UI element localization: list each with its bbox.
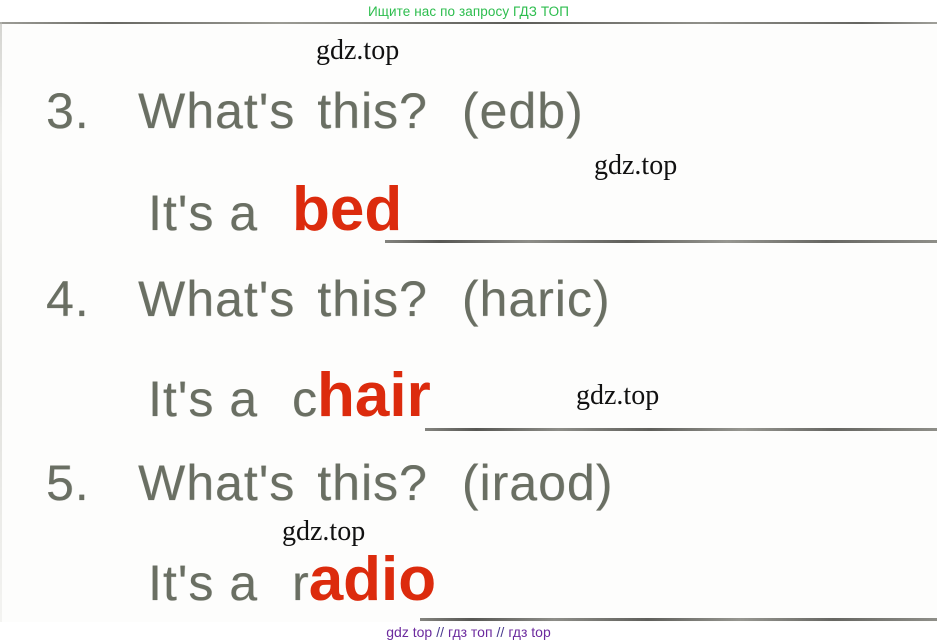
footer-separator-1: // (432, 624, 448, 640)
footer-part-latin-2: гдз top (508, 624, 550, 640)
footer-separator-2: // (493, 624, 509, 640)
exercise-answer-5: It's aradio (148, 544, 436, 615)
question-rest-3: this? (317, 83, 428, 139)
promo-banner-text: Ищите нас по запросу ГДЗ ТОП (368, 4, 569, 19)
answer-prefix-4: It's a (148, 371, 258, 427)
scan-edge-top-line (0, 22, 937, 24)
watermark-gdz-top-3: gdz.top (576, 380, 659, 412)
watermark-gdz-top-4: gdz.top (282, 516, 365, 548)
answer-typed-letter-4: c (292, 371, 317, 427)
footer-watermark-strip: gdz top//гдз топ//гдз top (0, 622, 937, 641)
exercise-answer-3: It's abed (148, 174, 402, 245)
answer-prefix-3: It's a (148, 185, 258, 241)
question-word-3: What's (138, 83, 295, 139)
question-rest-4: this? (317, 271, 428, 327)
exercise-number-4: 4. (46, 270, 138, 328)
exercise-answer-4: It's achair (148, 360, 431, 431)
answer-word-3: bed (292, 175, 402, 244)
answer-word-5: adio (309, 545, 436, 614)
answer-prefix-5: It's a (148, 555, 258, 611)
question-rest-5: this? (317, 455, 428, 511)
exercise-question-3: 3.What'sthis?(edb) (46, 82, 584, 140)
footer-part-cyrillic: гдз топ (448, 624, 493, 640)
exercise-number-3: 3. (46, 82, 138, 140)
promo-banner: Ищите нас по запросу ГДЗ ТОП (0, 0, 937, 22)
watermark-gdz-top-2: gdz.top (594, 150, 677, 182)
scan-edge-left-line (0, 22, 2, 622)
answer-rule-3 (385, 240, 937, 243)
answer-rule-4 (425, 428, 937, 431)
scramble-5: (iraod) (462, 455, 613, 511)
scramble-3: (edb) (462, 83, 584, 139)
answer-rule-5 (420, 618, 937, 621)
footer-watermark-text: gdz top//гдз топ//гдз top (386, 624, 551, 640)
scanned-worksheet-page: 3.What'sthis?(edb) It's abed 4.What'sthi… (0, 22, 937, 622)
answer-typed-letter-5: r (292, 555, 309, 611)
exercise-number-5: 5. (46, 454, 138, 512)
watermark-gdz-top-1: gdz.top (316, 35, 399, 67)
question-word-5: What's (138, 455, 295, 511)
footer-part-latin-1: gdz top (386, 624, 432, 640)
scramble-4: (haric) (462, 271, 611, 327)
exercise-question-4: 4.What'sthis?(haric) (46, 270, 611, 328)
answer-word-4: hair (317, 361, 431, 430)
question-word-4: What's (138, 271, 295, 327)
exercise-question-5: 5.What'sthis?(iraod) (46, 454, 613, 512)
